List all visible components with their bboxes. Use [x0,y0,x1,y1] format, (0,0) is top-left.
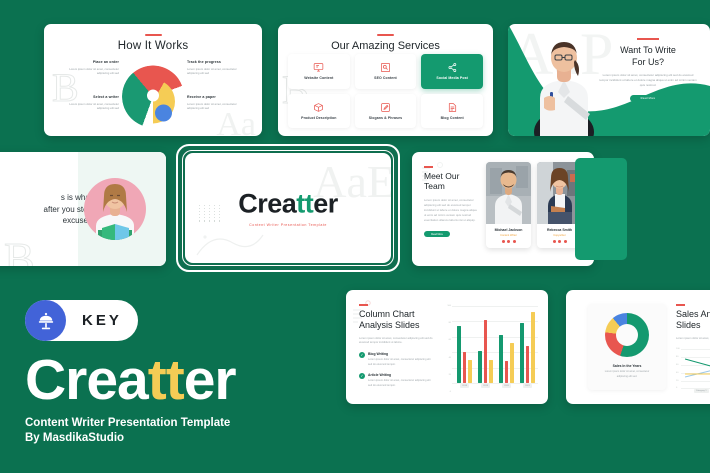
slide-sales-analysis[interactable]: Sales In the Years Lorem ipsum dolor sit… [566,290,710,404]
team-heading-line2: Team [424,181,478,192]
read-more-button[interactable]: Read More [424,231,450,237]
woman-photo [528,36,600,136]
bar-group [520,306,534,383]
feature-body: Lorem ipsum dolor sit amet, consectetur … [57,102,119,111]
donut-chart-card: Sales In the Years Lorem ipsum dolor sit… [588,304,666,390]
swoosh-decoration [195,225,265,259]
chart-heading-line1: Column Chart [359,309,433,321]
pencil-note-icon [380,102,391,113]
x-tick-label: 2021 [523,384,532,388]
chart-heading-line2: Analysis Slides [359,320,433,332]
brand-block: Creatter Content Writer Presentation Tem… [25,353,425,447]
y-tick-label: 100 [676,348,680,350]
service-card-blog-content[interactable]: Blog Content [421,94,483,129]
slide-cover[interactable]: AaE Creatter Content Writer Presentation… [185,153,391,263]
y-tick-label: 80 [446,322,451,324]
service-label: Product Description [301,116,336,120]
feature-body: Lorem ipsum dolor sit amet, consectetur … [57,67,119,76]
quote-line-3: excuses [8,215,92,227]
y-tick-label: 100 [446,305,451,307]
team-cards: Michael Jackson Content Writer [486,162,582,248]
service-card-social-media-post[interactable]: Social Media Post [421,54,483,89]
cover-title-part1: Crea [238,188,296,218]
donut-subtext: Lorem ipsum dolor sit amet, consectetur … [599,370,655,379]
slide-services[interactable]: B Our Amazing Services Website Content [278,24,493,136]
sales-heading-line2: Slides [676,320,710,332]
monitor-icon [313,62,324,73]
team-copy: Meet Our Team Lorem ipsum dolor sit amet… [424,166,478,237]
y-tick-label: 20 [676,380,678,382]
cover-title-part2: tt [296,188,313,218]
feature-body: Lorem ipsum dolor sit amet, consectetur … [187,67,249,76]
member-photo [486,162,531,224]
member-name: Rebecca Smith [539,228,580,232]
avatar [84,178,146,240]
want-to-write-copy: Want To Write For Us? Lorem ipsum dolor … [592,24,710,136]
y-tick-label: 20 [446,374,451,376]
swirl-illustration [122,65,184,127]
product-box-icon [313,102,324,113]
y-tick-label: 40 [446,357,451,359]
service-label: Blog Content [441,116,464,120]
brand-title: Creatter [25,353,425,409]
kicker-bar [637,38,659,40]
quote-line-1: s is what [8,192,92,204]
donut-caption: Sales In the Years [613,364,642,368]
team-body: Lorem ipsum dolor sit amet, consectetur … [424,198,478,223]
x-tick-label: 2020 [502,384,511,388]
brand-title-part2: tt [148,348,184,412]
woman-reading-photo [84,178,146,240]
bar-group [499,306,513,383]
services-grid: Website Content SEO Content [288,54,483,128]
keynote-badge: KEY [25,300,122,341]
bar-group [478,306,492,383]
blog-page-icon [447,102,458,113]
x-axis: Category 1 Category 2 [681,389,710,393]
y-tick-label: 80 [676,356,678,358]
service-label: Slogans & Phrases [369,116,402,120]
cover-title: Creatter [185,188,391,219]
sales-heading-line1: Sales An [676,309,710,321]
x-tick-label: Category 1 [694,389,709,393]
feature-item: Receive a paper Lorem ipsum dolor sit am… [187,95,249,110]
brand-title-part3: er [184,348,236,412]
read-more-button[interactable]: Read More [630,95,666,102]
kicker-bar [145,34,162,36]
service-label: Website Content [304,76,333,80]
team-heading-line1: Meet Our [424,171,478,182]
cover-slide-frame: AaE Creatter Content Writer Presentation… [176,144,400,272]
bar-group [457,306,471,383]
service-card-product-description[interactable]: Product Description [288,94,350,129]
cover-title-part3: er [313,188,338,218]
slide-body: Lorem ipsum dolor sit amet, consectetur … [598,73,698,88]
chart-body: Lorem ipsum dolor sit amet, consectetur … [359,337,433,347]
quote-text: s is what after you stop excuses [8,192,92,227]
slide-title: Our Amazing Services [278,40,493,52]
brand-subtitle-line1: Content Writer Presentation Template [25,416,425,432]
slide-title: How It Works [44,40,262,52]
service-card-website-content[interactable]: Website Content [288,54,350,89]
badge-circle [25,300,66,341]
badge-label: KEY [82,312,122,329]
brand-title-part1: Crea [25,348,148,412]
social-icons[interactable] [488,240,529,243]
slide-want-to-write[interactable]: AaP Want To Write [508,24,710,136]
y-tick-label: 0 [446,391,451,393]
feature-body: Lorem ipsum dolor sit amet, consectetur … [187,102,249,111]
feature-heading: Select a writer [57,95,119,99]
feature-item: Select a writer Lorem ipsum dolor sit am… [57,95,119,110]
line-series [681,349,710,385]
social-share-icon [447,62,458,73]
feature-heading: Place an order [57,60,119,64]
feature-heading: Receive a paper [187,95,249,99]
service-card-seo-content[interactable]: SEO Content [355,54,417,89]
y-tick-label: 60 [446,339,451,341]
seo-chart-icon [380,62,391,73]
team-member-card[interactable]: Michael Jackson Content Writer [486,162,531,248]
social-icons[interactable] [539,240,580,243]
service-label: SEO Content [374,76,397,80]
service-label: Social Media Post [436,76,467,80]
team-slide-green-accent [575,158,627,260]
brand-subtitle-line2: By MasdikaStudio [25,431,425,447]
member-role: Copywriter [539,234,580,237]
slide-heading-line1: Want To Write [598,44,698,56]
feature-item: Track the progress Lorem ipsum dolor sit… [187,60,249,75]
kicker-bar [377,34,394,36]
member-name: Michael Jackson [488,228,529,232]
feature-heading: Track the progress [187,60,249,64]
x-tick-label: 2019 [481,384,490,388]
kicker-bar [424,166,433,168]
service-card-slogans-phrases[interactable]: Slogans & Phrases [355,94,417,129]
y-tick-label: 0 [676,387,677,389]
kicker-bar [359,304,368,306]
keynote-podium-icon [36,311,56,331]
donut-chart [605,313,649,357]
feature-item: Place an order Lorem ipsum dolor sit ame… [57,60,119,75]
line-chart: 100 80 60 40 20 0 Category 1 Category 2 [676,349,710,393]
slide-how-it-works[interactable]: B Aa How It Works Place an order Lorem i… [44,24,262,136]
quote-line-2: after you stop [8,204,92,216]
sales-copy: Sales An Slides Lorem ipsum dolor sit am… [676,304,710,393]
bar-groups [454,306,538,383]
ghost-letter-b: B [4,236,35,266]
x-axis: 2018 2019 2020 2021 [454,384,538,392]
y-tick-label: 60 [676,364,678,366]
slide-heading-line2: For Us? [598,56,698,68]
y-tick-label: 40 [676,372,678,374]
brand-subtitle: Content Writer Presentation Template By … [25,416,425,447]
bar-chart: 100 80 60 40 20 0 [446,306,538,392]
x-tick-label: 2018 [460,384,469,388]
slide-quote[interactable]: B s is what after you stop excuses [0,152,166,266]
kicker-bar [676,304,685,306]
cover-subtitle: Content Writer Presentation Template [185,223,391,227]
sales-body: Lorem ipsum dolor sit amet, consectetur … [676,337,710,342]
poster-stage: B Aa How It Works Place an order Lorem i… [0,0,710,473]
slide-team[interactable]: Meet Our Team Lorem ipsum dolor sit amet… [412,152,594,266]
member-role: Content Writer [488,234,529,237]
